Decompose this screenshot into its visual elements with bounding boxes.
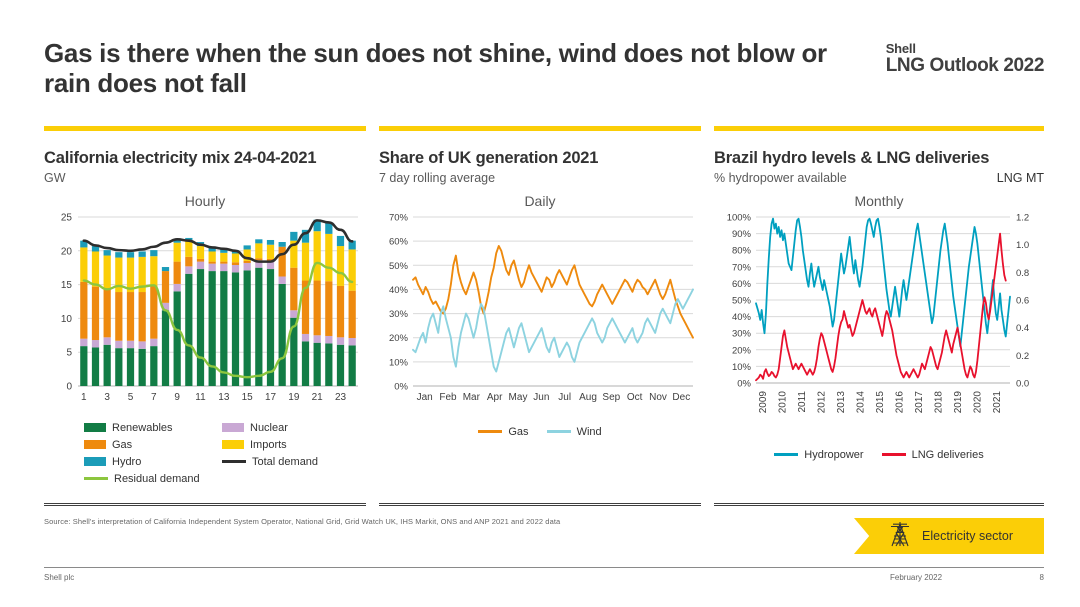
panel-subtitle-right: LNG MT bbox=[997, 171, 1044, 185]
svg-text:20: 20 bbox=[61, 246, 73, 257]
source-note: Source: Shell's interpretation of Califo… bbox=[44, 517, 560, 526]
svg-text:Oct: Oct bbox=[627, 392, 643, 403]
legend-label: LNG deliveries bbox=[912, 449, 984, 461]
svg-text:30%: 30% bbox=[389, 309, 409, 320]
svg-text:2017: 2017 bbox=[914, 390, 925, 413]
legend-swatch bbox=[84, 423, 106, 432]
svg-text:2009: 2009 bbox=[758, 390, 769, 413]
svg-text:May: May bbox=[509, 392, 528, 403]
chart-legend: GasWind bbox=[379, 426, 701, 438]
legend-swatch bbox=[84, 440, 106, 449]
svg-text:15: 15 bbox=[61, 280, 73, 291]
legend-label: Nuclear bbox=[250, 422, 288, 434]
uk-generation-chart: 0%10%20%30%40%50%60%70%JanFebMarAprMayJu… bbox=[379, 211, 701, 416]
legend-item[interactable]: Hydro bbox=[84, 456, 216, 468]
legend-swatch bbox=[774, 453, 798, 456]
legend-swatch bbox=[547, 430, 571, 433]
panel-subtitle: % hydropower available bbox=[714, 171, 847, 185]
legend-item[interactable]: Total demand bbox=[222, 456, 366, 468]
brand-shell-word: Shell bbox=[886, 42, 1044, 56]
panel-accent-bar bbox=[379, 126, 701, 131]
svg-text:0%: 0% bbox=[737, 378, 751, 389]
svg-text:Aug: Aug bbox=[579, 392, 597, 403]
svg-text:17: 17 bbox=[265, 392, 277, 403]
chart-plot-area: 0%10%20%30%40%50%60%70%80%90%100%0.00.20… bbox=[714, 211, 1044, 439]
charts-container: California electricity mix 24-04-2021 GW… bbox=[44, 126, 1044, 506]
svg-text:7: 7 bbox=[151, 392, 157, 403]
panel-brazil-hydro-lng: Brazil hydro levels & LNG deliveries % h… bbox=[714, 126, 1044, 506]
panel-divider bbox=[44, 503, 366, 506]
slide-header: Gas is there when the sun does not shine… bbox=[44, 38, 1044, 98]
svg-text:0%: 0% bbox=[394, 381, 408, 392]
svg-text:0.8: 0.8 bbox=[1016, 268, 1029, 279]
legend-item[interactable]: Gas bbox=[84, 439, 216, 451]
chart-caption: Hourly bbox=[44, 193, 366, 209]
svg-text:Dec: Dec bbox=[672, 392, 690, 403]
svg-text:60%: 60% bbox=[389, 236, 409, 247]
brand-deck-title: LNG Outlook 2022 bbox=[886, 56, 1044, 76]
legend-item[interactable]: Hydropower bbox=[774, 449, 863, 461]
panel-subtitle: 7 day rolling average bbox=[379, 171, 495, 185]
chart-caption: Daily bbox=[379, 193, 701, 209]
legend-item[interactable]: Nuclear bbox=[222, 422, 366, 434]
svg-text:70%: 70% bbox=[732, 262, 752, 273]
footer-page-number: 8 bbox=[1040, 573, 1044, 582]
panel-divider bbox=[379, 503, 701, 506]
svg-text:19: 19 bbox=[288, 392, 300, 403]
svg-text:0.2: 0.2 bbox=[1016, 351, 1029, 362]
svg-text:2010: 2010 bbox=[777, 390, 788, 413]
svg-text:2015: 2015 bbox=[875, 390, 886, 413]
brazil-hydro-lng-chart: 0%10%20%30%40%50%60%70%80%90%100%0.00.20… bbox=[714, 211, 1044, 439]
chart-plot-area: 05101520251357911131517192123 bbox=[44, 211, 366, 416]
panel-title: Brazil hydro levels & LNG deliveries bbox=[714, 149, 1044, 169]
svg-text:2021: 2021 bbox=[992, 390, 1003, 413]
legend-label: Wind bbox=[577, 426, 602, 438]
svg-text:50%: 50% bbox=[732, 295, 752, 306]
svg-text:30%: 30% bbox=[732, 328, 752, 339]
panel-accent-bar bbox=[714, 126, 1044, 131]
panel-title: Share of UK generation 2021 bbox=[379, 149, 701, 169]
svg-text:90%: 90% bbox=[732, 229, 752, 240]
chart-caption: Monthly bbox=[714, 193, 1044, 209]
svg-text:2013: 2013 bbox=[836, 390, 847, 413]
svg-text:Mar: Mar bbox=[463, 392, 481, 403]
legend-item[interactable]: Renewables bbox=[84, 422, 216, 434]
legend-swatch bbox=[222, 423, 244, 432]
svg-text:2018: 2018 bbox=[934, 390, 945, 413]
legend-label: Gas bbox=[508, 426, 528, 438]
legend-item[interactable]: Residual demand bbox=[84, 473, 216, 485]
legend-label: Renewables bbox=[112, 422, 173, 434]
svg-text:Feb: Feb bbox=[439, 392, 457, 403]
svg-text:Jan: Jan bbox=[417, 392, 433, 403]
legend-label: Total demand bbox=[252, 456, 318, 468]
svg-text:Nov: Nov bbox=[649, 392, 667, 403]
panel-subtitle: GW bbox=[44, 171, 66, 185]
legend-swatch bbox=[222, 460, 246, 463]
svg-text:25: 25 bbox=[61, 212, 73, 223]
svg-text:1.2: 1.2 bbox=[1016, 212, 1029, 223]
svg-text:1.0: 1.0 bbox=[1016, 240, 1029, 251]
svg-text:2016: 2016 bbox=[895, 390, 906, 413]
shell-brand-lockup: Shell LNG Outlook 2022 bbox=[886, 42, 1044, 75]
legend-item[interactable]: LNG deliveries bbox=[882, 449, 984, 461]
svg-text:Jun: Jun bbox=[533, 392, 549, 403]
panel-accent-bar bbox=[44, 126, 366, 131]
svg-text:2011: 2011 bbox=[797, 390, 808, 412]
legend-label: Imports bbox=[250, 439, 287, 451]
footer-divider bbox=[44, 567, 1044, 569]
svg-text:1: 1 bbox=[81, 392, 87, 403]
legend-label: Hydropower bbox=[804, 449, 863, 461]
svg-text:100%: 100% bbox=[727, 212, 752, 223]
svg-text:2014: 2014 bbox=[855, 390, 866, 413]
svg-text:Sep: Sep bbox=[602, 392, 620, 403]
svg-text:70%: 70% bbox=[389, 212, 409, 223]
legend-label: Residual demand bbox=[114, 473, 200, 485]
svg-text:Apr: Apr bbox=[487, 392, 503, 403]
svg-text:0.0: 0.0 bbox=[1016, 378, 1029, 389]
chart-legend: HydropowerLNG deliveries bbox=[714, 449, 1044, 461]
legend-item[interactable]: Imports bbox=[222, 439, 366, 451]
legend-swatch bbox=[882, 453, 906, 456]
legend-item[interactable]: Wind bbox=[547, 426, 602, 438]
svg-text:13: 13 bbox=[218, 392, 230, 403]
svg-text:15: 15 bbox=[242, 392, 254, 403]
svg-text:23: 23 bbox=[335, 392, 347, 403]
panel-uk-generation-share: Share of UK generation 2021 7 day rollin… bbox=[379, 126, 701, 506]
chart-plot-area: 0%10%20%30%40%50%60%70%JanFebMarAprMayJu… bbox=[379, 211, 701, 416]
slide-footer: Shell plc February 2022 8 bbox=[44, 573, 1044, 593]
svg-text:20%: 20% bbox=[732, 345, 752, 356]
svg-text:2012: 2012 bbox=[816, 390, 827, 413]
panel-title: California electricity mix 24-04-2021 bbox=[44, 149, 366, 169]
legend-label: Hydro bbox=[112, 456, 141, 468]
footer-company: Shell plc bbox=[44, 573, 74, 582]
california-mix-chart: 05101520251357911131517192123 bbox=[44, 211, 366, 416]
svg-text:2019: 2019 bbox=[953, 390, 964, 413]
legend-swatch bbox=[84, 477, 108, 480]
svg-text:60%: 60% bbox=[732, 279, 752, 290]
svg-text:Jul: Jul bbox=[558, 392, 571, 403]
svg-text:0.6: 0.6 bbox=[1016, 295, 1029, 306]
svg-text:10%: 10% bbox=[389, 357, 409, 368]
svg-text:3: 3 bbox=[104, 392, 110, 403]
svg-text:0.4: 0.4 bbox=[1016, 323, 1029, 334]
legend-item[interactable]: Gas bbox=[478, 426, 528, 438]
page-title: Gas is there when the sun does not shine… bbox=[44, 38, 844, 98]
svg-text:2020: 2020 bbox=[973, 390, 984, 413]
slide: Gas is there when the sun does not shine… bbox=[0, 0, 1080, 607]
svg-text:21: 21 bbox=[312, 392, 324, 403]
sector-badge-label: Electricity sector bbox=[922, 529, 1013, 543]
svg-text:10: 10 bbox=[61, 314, 73, 325]
svg-text:40%: 40% bbox=[389, 285, 409, 296]
legend-swatch bbox=[222, 440, 244, 449]
legend-swatch bbox=[478, 430, 502, 433]
svg-text:9: 9 bbox=[174, 392, 180, 403]
svg-text:5: 5 bbox=[66, 347, 72, 358]
svg-text:50%: 50% bbox=[389, 261, 409, 272]
svg-text:10%: 10% bbox=[732, 362, 752, 373]
chart-legend: RenewablesNuclearGasImportsHydroTotal de… bbox=[84, 422, 366, 485]
svg-text:20%: 20% bbox=[389, 333, 409, 344]
footer-date: February 2022 bbox=[890, 573, 942, 582]
sector-badge[interactable]: Electricity sector bbox=[854, 518, 1044, 554]
svg-text:11: 11 bbox=[195, 392, 206, 403]
panel-california-electricity-mix: California electricity mix 24-04-2021 GW… bbox=[44, 126, 366, 506]
svg-text:0: 0 bbox=[66, 381, 72, 392]
svg-text:5: 5 bbox=[128, 392, 134, 403]
svg-text:40%: 40% bbox=[732, 312, 752, 323]
panel-divider bbox=[714, 503, 1044, 506]
legend-swatch bbox=[84, 457, 106, 466]
pylon-icon bbox=[888, 521, 912, 552]
legend-label: Gas bbox=[112, 439, 132, 451]
svg-text:80%: 80% bbox=[732, 245, 752, 256]
